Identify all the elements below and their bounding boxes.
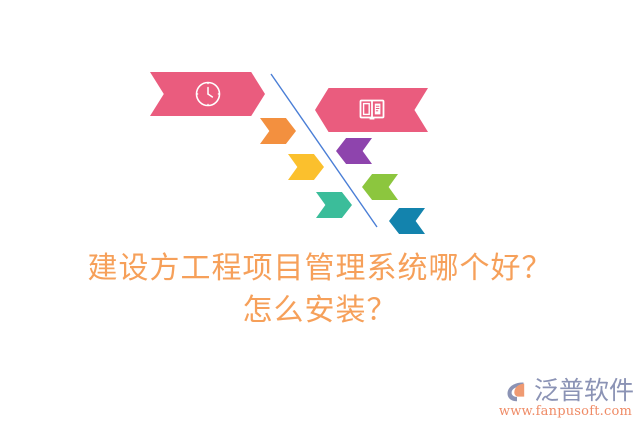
- brand-watermark: 泛普软件 www.fanpusoft.com: [499, 377, 634, 419]
- infographic-arrows-group: [0, 0, 640, 245]
- brand-name: 泛普软件: [534, 377, 634, 405]
- brand-url: www.fanpusoft.com: [499, 404, 632, 419]
- chevron-yellow: [288, 154, 324, 180]
- clock-icon: [194, 80, 222, 108]
- fanpu-logo-icon: [502, 377, 530, 405]
- image-canvas: 建设方工程项目管理系统哪个好？ 怎么安装？ 泛普软件 www.fanpusoft…: [0, 0, 640, 427]
- chevron-orange: [260, 118, 296, 144]
- chevron-green: [362, 174, 398, 200]
- chevron-purple: [336, 138, 372, 164]
- diagonal-line: [0, 0, 640, 245]
- brand-row: 泛普软件: [502, 377, 634, 405]
- banner-book: [315, 88, 428, 132]
- banner-clock: [150, 72, 265, 116]
- open-book-icon: [358, 96, 386, 124]
- headline-text: 建设方工程项目管理系统哪个好？ 怎么安装？: [0, 248, 640, 332]
- chevron-blue: [389, 208, 425, 234]
- chevron-teal: [316, 192, 352, 218]
